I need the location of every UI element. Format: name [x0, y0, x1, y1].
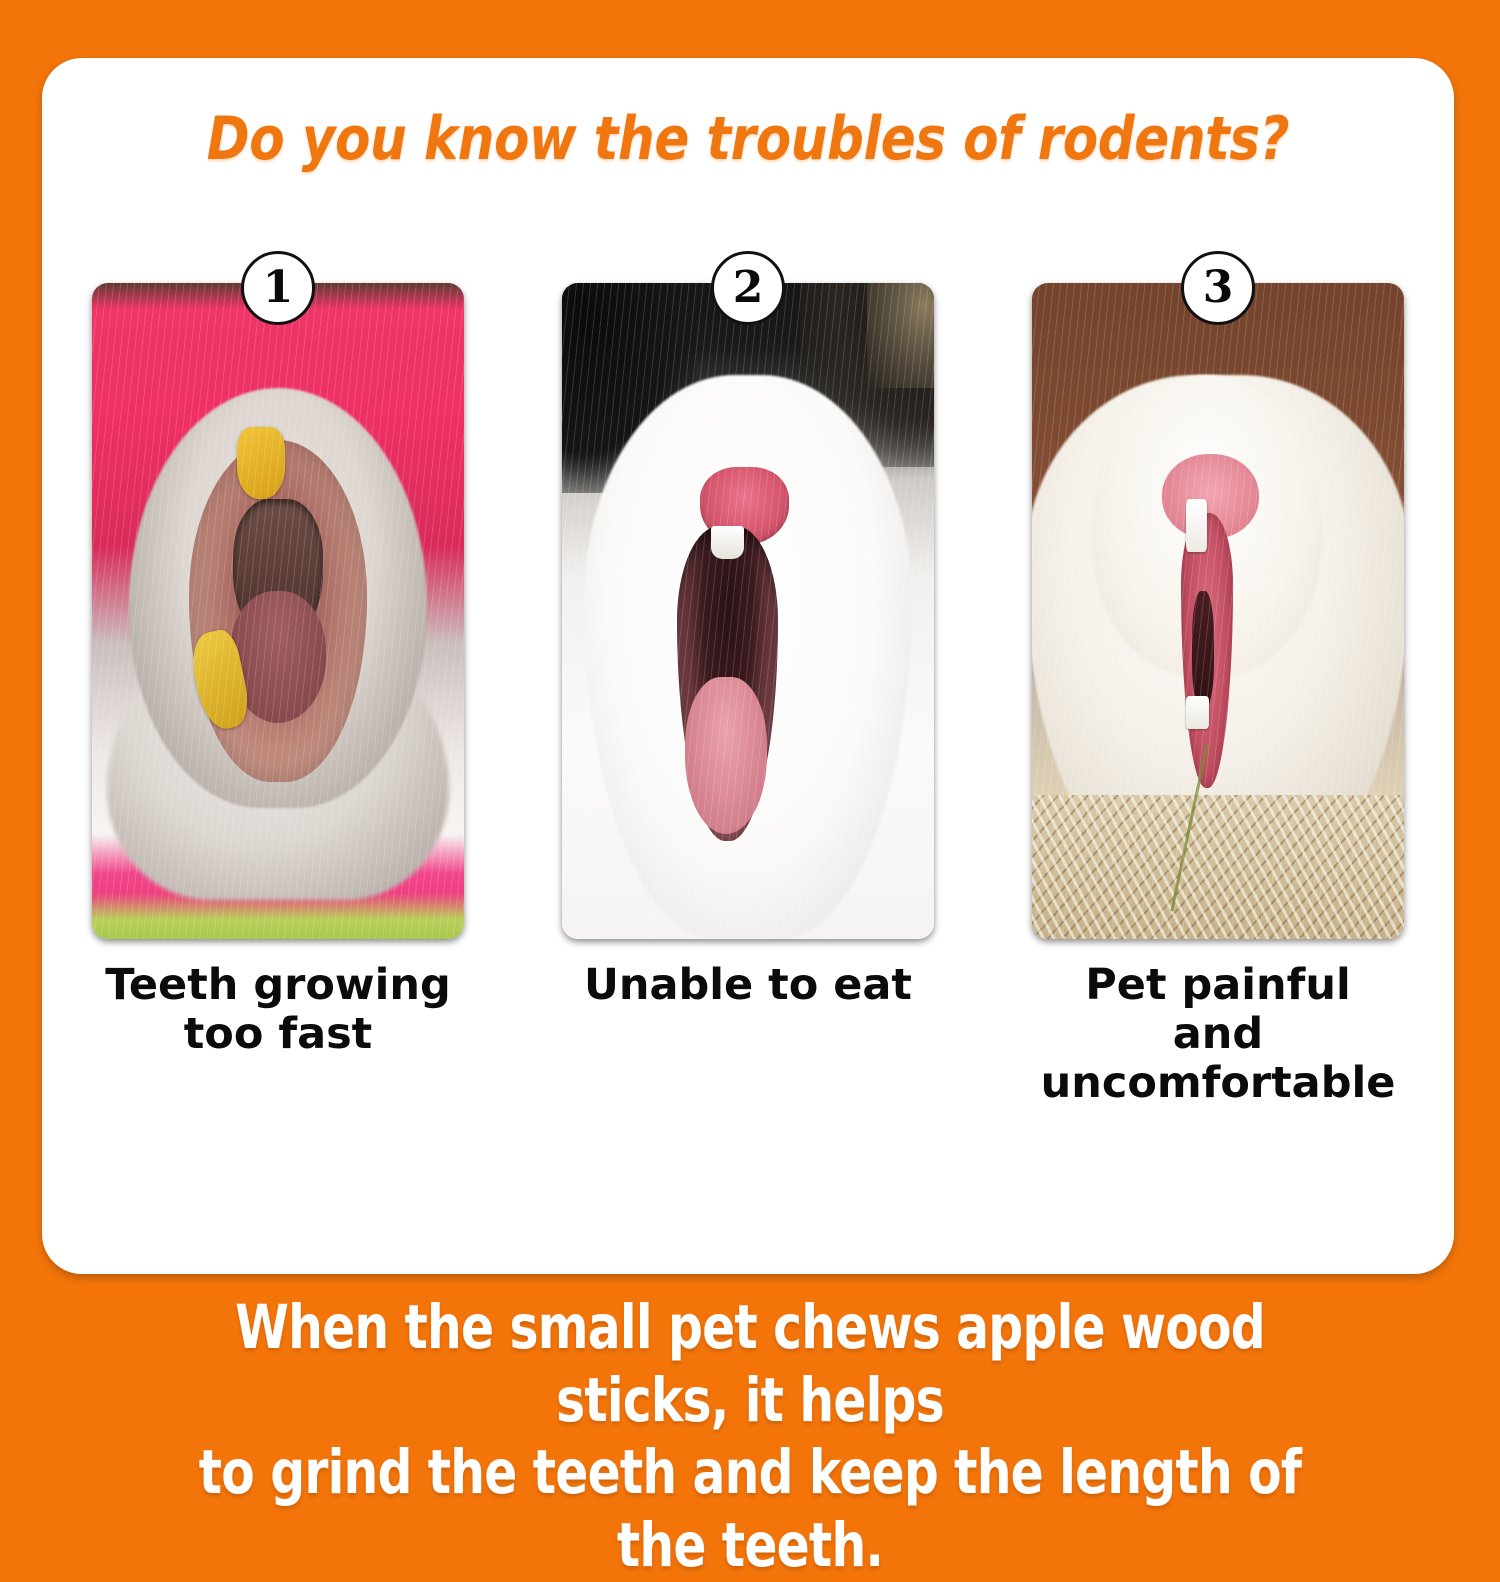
trouble-caption-1: Teeth growing too fast	[78, 961, 478, 1059]
content-card: Do you know the troubles of rodents?	[42, 58, 1454, 1274]
trouble-item-1: 1 Teeth growing too fast	[78, 283, 478, 1059]
troubles-row: 1 Teeth growing too fast	[78, 283, 1418, 1108]
promo-poster: Do you know the troubles of rodents?	[0, 0, 1500, 1500]
trouble-item-3: 3 Pet painful and uncomfortable	[1018, 283, 1418, 1108]
photo-wrap-2: 2	[562, 283, 934, 939]
photo-rodent-overgrown-teeth	[92, 283, 464, 939]
photo-wrap-3: 3	[1032, 283, 1404, 939]
trouble-caption-2: Unable to eat	[548, 961, 948, 1010]
photo-hamster-open-mouth	[1032, 283, 1404, 939]
trouble-caption-3: Pet painful and uncomfortable	[1018, 961, 1418, 1108]
photo-rabbit-yawning	[562, 283, 934, 939]
photo-wrap-1: 1	[92, 283, 464, 939]
step-badge-2: 2	[711, 251, 785, 325]
trouble-item-2: 2 Unable to eat	[548, 283, 948, 1010]
footer-message: When the small pet chews apple wood stic…	[150, 1292, 1350, 1582]
step-badge-3: 3	[1181, 251, 1255, 325]
step-badge-1: 1	[241, 251, 315, 325]
page-title: Do you know the troubles of rodents?	[141, 104, 1355, 174]
